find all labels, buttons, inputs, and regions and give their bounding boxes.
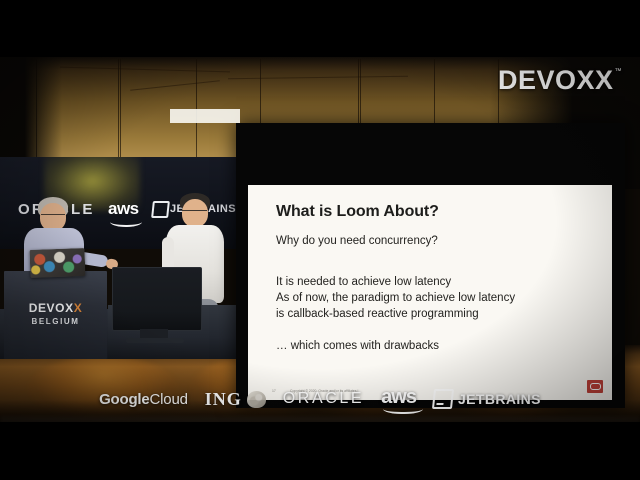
sponsor-google-bold: Google [99,391,149,408]
devoxx-watermark-logo: DEVOXX™ [498,65,622,96]
podium-brand-accent: X [74,301,83,315]
sponsor-jetbrains: JETBRAINS [433,389,541,409]
video-picture: ORACLE aws JETBRAINS [0,57,640,422]
slide-body: It is needed to achieve low latency As o… [276,274,515,322]
presenter-laptop [30,248,86,278]
presentation-slide: What is Loom About? Why do you need conc… [248,185,612,400]
slide-title: What is Loom About? [276,203,439,221]
podium-subtitle: BELGIUM [4,317,107,326]
sponsor-google-cloud: Google Cloud [99,391,188,408]
stage-area: ORACLE aws JETBRAINS [0,57,236,357]
sponsor-ing-label: ING [205,389,242,410]
ing-lion-icon [247,391,266,408]
letterbox-top [0,0,640,57]
speaker-right-glasses [182,210,207,215]
slide-body-line-1: It is needed to achieve low latency [276,274,515,290]
podium-brand: DEVOX [29,301,74,315]
sponsor-aws: aws [381,386,416,413]
slide-question: Why do you need concurrency? [276,235,438,247]
speaker-left-glasses [41,214,65,219]
backdrop-aws-logo: aws [108,199,139,219]
sponsor-jetbrains-label: JETBRAINS [458,391,541,407]
sponsor-ing: ING [205,389,266,410]
slide-body-line-3: is callback-based reactive programming [276,306,515,322]
aws-swoosh-icon [383,403,423,414]
slide-edge-reflection [170,109,240,123]
jetbrains-mark-icon [432,389,454,409]
slide-body-line-2: As of now, the paradigm to achieve low l… [276,290,515,306]
monitor-base [126,338,184,343]
devoxx-watermark-tail: X [595,65,614,96]
speaker-podium: DEVOXX BELGIUM [4,271,107,359]
confidence-monitor [112,267,202,331]
sponsor-oracle: ORACLE [283,390,364,408]
sponsor-google-light: Cloud [150,391,188,408]
video-frame: ORACLE aws JETBRAINS [0,0,640,480]
trademark-icon: ™ [615,68,623,75]
letterbox-bottom [0,422,640,480]
podium-devoxx-logo: DEVOXX [4,301,107,315]
devoxx-watermark-text: DEVOX [498,65,595,96]
slide-outro-line: … which comes with drawbacks [276,340,439,352]
sponsor-logo-strip: Google Cloud ING ORACLE aws JETBRAINS [0,381,640,417]
